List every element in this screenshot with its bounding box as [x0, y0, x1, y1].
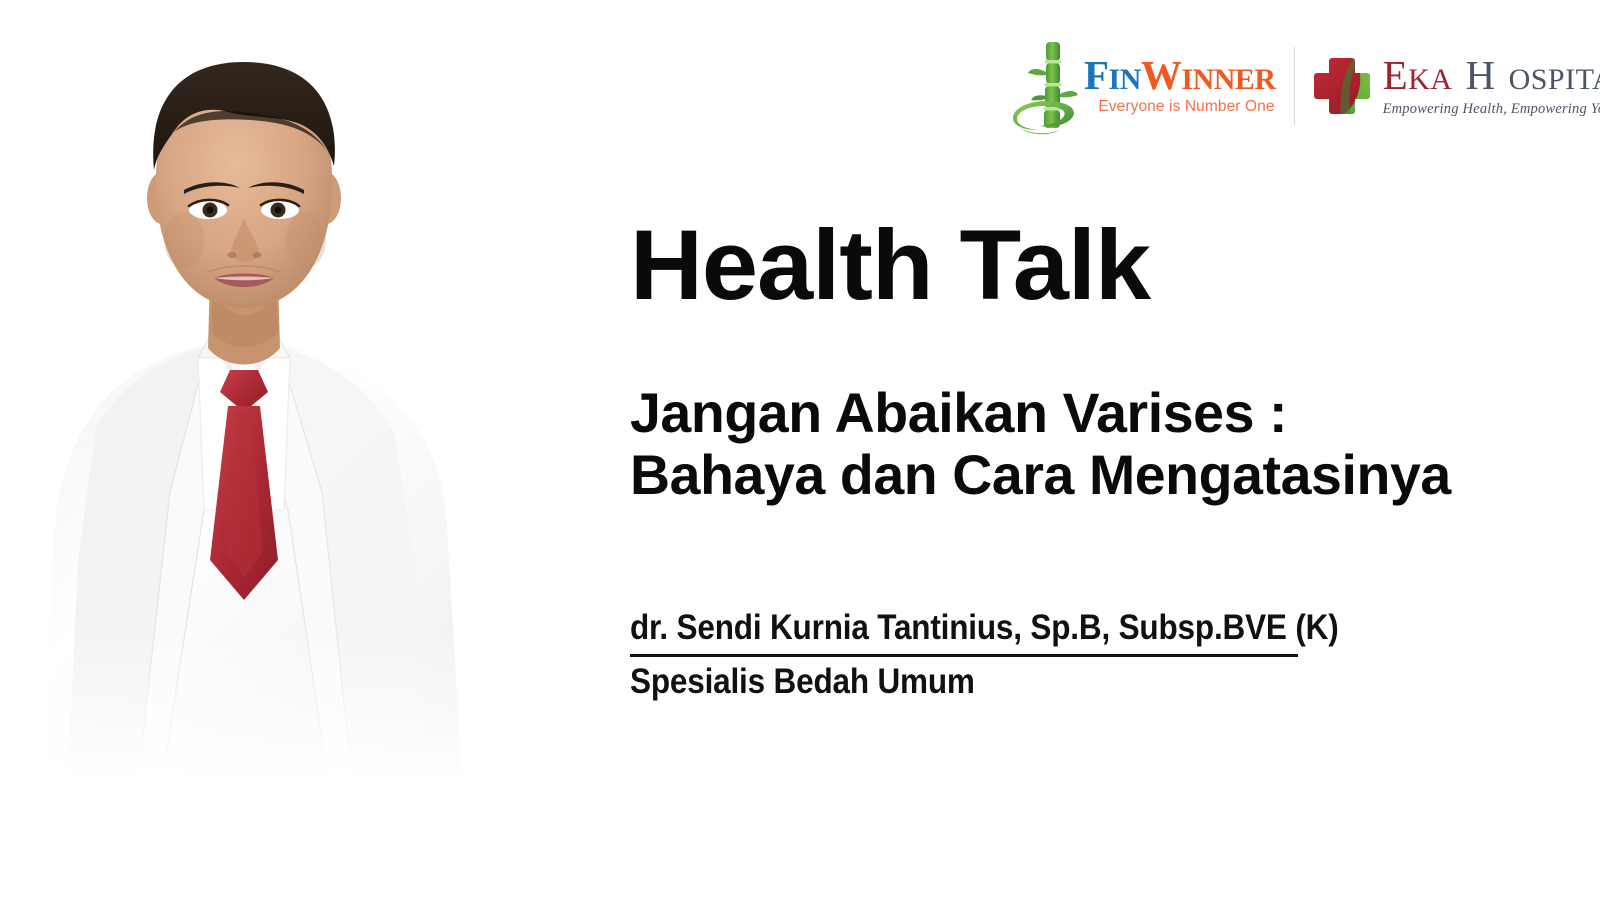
finwinner-winner-cap: W: [1141, 55, 1182, 96]
speaker-name: dr. Sendi Kurnia Tantinius, Sp.B, Subsp.…: [630, 609, 1231, 647]
eka-rest: KA: [1408, 65, 1452, 95]
session-subtitle-line1: Jangan Abaikan Varises :: [630, 381, 1287, 444]
doctor-portrait: [22, 40, 462, 780]
eka-hospital-logo: EKAHOSPITAL Empowering Health, Empowerin…: [1311, 55, 1600, 117]
health-talk-slide: FINWINNER Everyone is Number One: [0, 0, 1600, 900]
speaker-role: Spesialis Bedah Umum: [630, 663, 1231, 701]
speaker-divider: [630, 654, 1298, 657]
page-title: Health Talk: [630, 215, 1558, 316]
medical-cross-icon: [1311, 55, 1373, 117]
eka-hospital-wordmark: EKAHOSPITAL Empowering Health, Empowerin…: [1383, 55, 1600, 117]
finwinner-fin-rest: IN: [1109, 65, 1141, 95]
eka-hospital-word: EKAHOSPITAL: [1383, 55, 1600, 96]
finwinner-wordmark: FINWINNER Everyone is Number One: [1084, 55, 1276, 117]
finwinner-tagline: Everyone is Number One: [1098, 99, 1274, 115]
finwinner-word: FINWINNER: [1084, 55, 1276, 96]
doctor-portrait-image: [22, 40, 462, 780]
session-subtitle-line2: Bahaya dan Cara Mengatasinya: [630, 444, 1531, 506]
eka-hospital-tagline: Empowering Health, Empowering You: [1383, 102, 1600, 117]
speaker-block: dr. Sendi Kurnia Tantinius, Sp.B, Subsp.…: [630, 609, 1298, 701]
logo-bar: FINWINNER Everyone is Number One: [1006, 36, 1600, 136]
logo-divider: [1294, 47, 1295, 125]
session-subtitle: Jangan Abaikan Varises : Bahaya dan Cara…: [630, 382, 1531, 505]
bamboo-icon: [1006, 36, 1080, 136]
eka-cap: E: [1383, 55, 1409, 96]
hospital-cap: H: [1465, 55, 1495, 96]
finwinner-fin-cap: F: [1084, 55, 1109, 96]
finwinner-logo: FINWINNER Everyone is Number One: [1006, 36, 1276, 136]
finwinner-winner-rest: INNER: [1181, 65, 1275, 95]
content-block: Health Talk Jangan Abaikan Varises : Bah…: [630, 215, 1540, 701]
hospital-rest: OSPITA: [1509, 65, 1600, 95]
